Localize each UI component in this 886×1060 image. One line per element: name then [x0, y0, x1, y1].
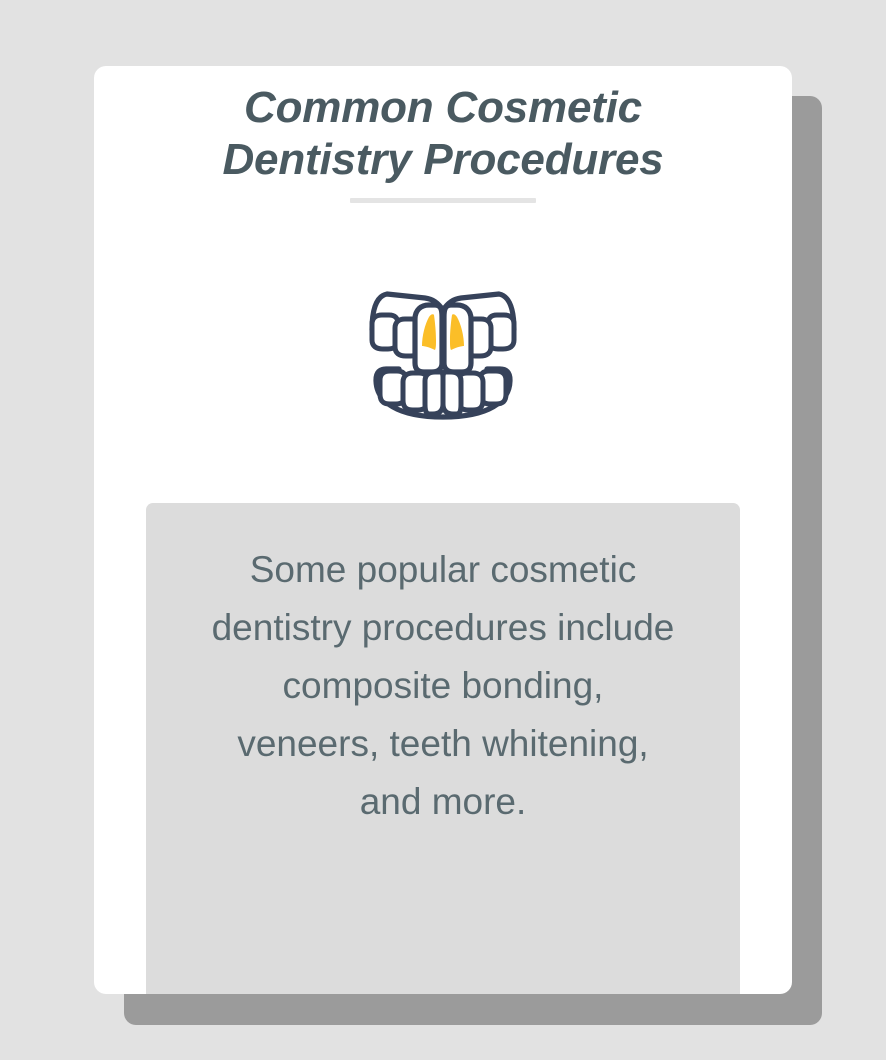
- body-panel: Some popular cosmetic dentistry procedur…: [146, 503, 740, 994]
- content-card: Common Cosmetic Dentistry Procedures: [94, 66, 792, 994]
- title-divider: [350, 198, 536, 203]
- slide-canvas: Common Cosmetic Dentistry Procedures: [0, 0, 886, 1060]
- page-title: Common Cosmetic Dentistry Procedures: [94, 82, 792, 186]
- body-text: Some popular cosmetic dentistry procedur…: [146, 541, 740, 831]
- teeth-icon: [363, 284, 523, 424]
- teeth-icon-container: [94, 284, 792, 424]
